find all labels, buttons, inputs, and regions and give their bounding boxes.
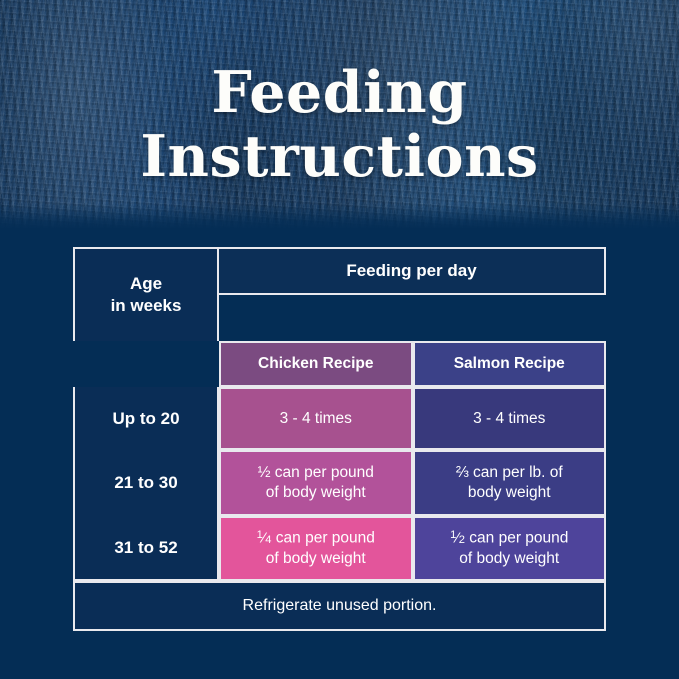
cell-chicken-row-1: 3 - 4 times <box>219 387 413 450</box>
banner-bottom-fade <box>0 203 679 229</box>
cell-age-row-3: 31 to 52 <box>73 516 219 581</box>
footer-note: Refrigerate unused portion. <box>73 581 606 631</box>
header-chicken-recipe: Chicken Recipe <box>219 341 413 387</box>
table-footer-row: Refrigerate unused portion. <box>73 581 606 631</box>
title-line-2: Instructions <box>0 128 679 185</box>
cell-age-row-2: 21 to 30 <box>73 450 219 516</box>
feeding-instructions-table: Age in weeks Feeding per day Chicken Rec… <box>73 247 606 631</box>
title-line-1: Feeding <box>0 64 679 121</box>
cell-chicken-row-2-line-2: of body weight <box>258 483 374 503</box>
cell-chicken-row-2-line-1: ½ can per pound <box>258 463 374 483</box>
cell-salmon-row-1: 3 - 4 times <box>413 387 607 450</box>
header-age-in-weeks: Age in weeks <box>73 247 219 341</box>
cell-chicken-row-2: ½ can per pound of body weight <box>219 450 413 516</box>
cell-salmon-row-2-line-2: body weight <box>456 483 563 503</box>
table-header-row-top: Age in weeks Feeding per day <box>73 247 606 341</box>
header-salmon-recipe: Salmon Recipe <box>413 341 607 387</box>
cell-salmon-row-3-line-1: 1⁄2 can per pound <box>450 528 568 549</box>
cell-chicken-row-3-line-1: 1⁄4 can per pound <box>257 528 375 549</box>
header-age-line-1: Age <box>111 273 182 295</box>
table-row: 31 to 52 1⁄4 can per pound of body weigh… <box>73 516 606 581</box>
cell-chicken-row-3-text: can per pound <box>271 530 374 547</box>
cell-salmon-row-3: 1⁄2 can per pound of body weight <box>413 516 607 581</box>
table-header-row-sub: Chicken Recipe Salmon Recipe <box>73 341 606 387</box>
cell-salmon-row-2: ⅔ can per lb. of body weight <box>413 450 607 516</box>
cell-chicken-row-3-line-2: of body weight <box>257 549 375 569</box>
table-row: 21 to 30 ½ can per pound of body weight … <box>73 450 606 516</box>
cell-salmon-row-3-text: can per pound <box>465 530 568 547</box>
cell-salmon-row-2-line-1: ⅔ can per lb. of <box>456 463 563 483</box>
cell-age-row-1: Up to 20 <box>73 387 219 450</box>
page-title: Feeding Instructions <box>0 64 679 185</box>
cell-chicken-row-3: 1⁄4 can per pound of body weight <box>219 516 413 581</box>
header-feeding-per-day: Feeding per day <box>219 247 606 295</box>
header-age-line-2: in weeks <box>111 295 182 317</box>
table-row: Up to 20 3 - 4 times 3 - 4 times <box>73 387 606 450</box>
cell-salmon-row-3-line-2: of body weight <box>450 549 568 569</box>
